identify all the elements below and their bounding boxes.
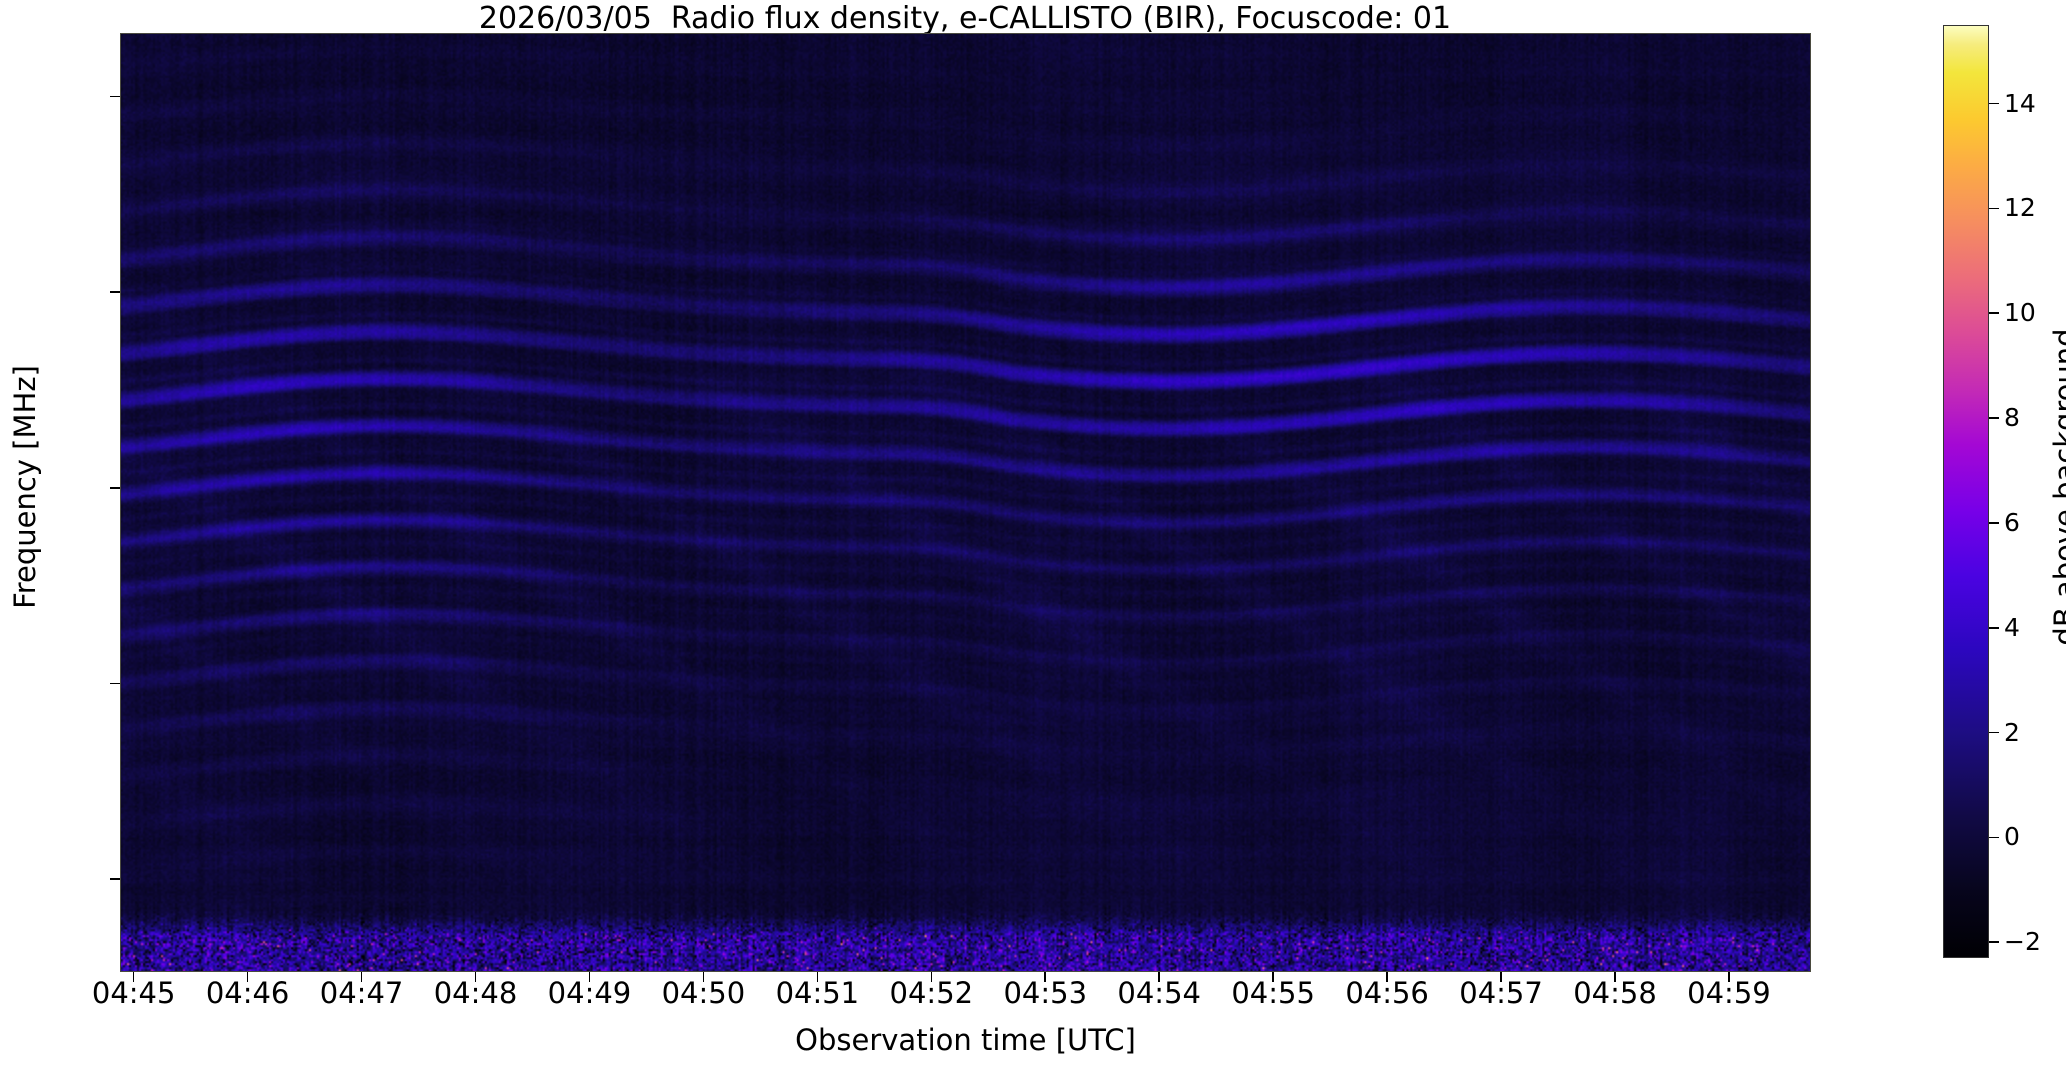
colorbar-tick-mark (1989, 627, 1999, 629)
y-tick-mark (110, 487, 120, 489)
page-title: 2026/03/05 Radio flux density, e-CALLIST… (120, 2, 1810, 36)
colorbar-tick-mark (1989, 103, 1999, 105)
y-tick-mark (110, 291, 120, 293)
colorbar-tick-label: −2 (2004, 929, 2060, 954)
colorbar-tick-label: 14 (2004, 91, 2060, 116)
colorbar-tick-mark (1989, 417, 1999, 419)
spectrogram-image (121, 34, 1810, 971)
colorbar-label: dB above background (2048, 227, 2066, 747)
colorbar-gradient (1943, 25, 1989, 958)
y-axis-label: Frequency [MHz] (8, 17, 42, 957)
colorbar-tick-mark (1989, 732, 1999, 734)
y-tick-mark (110, 96, 120, 98)
colorbar-tick-mark (1989, 312, 1999, 314)
colorbar-tick-label: 0 (2004, 824, 2060, 849)
colorbar-tick-mark (1989, 522, 1999, 524)
x-axis-label: Observation time [UTC] (120, 1023, 1811, 1057)
y-tick-mark (110, 878, 120, 880)
colorbar-tick-mark (1989, 837, 1999, 839)
spectrogram-axes (120, 33, 1811, 972)
colorbar-tick-label: 12 (2004, 195, 2060, 220)
colorbar-tick-mark (1989, 941, 1999, 943)
x-tick-label: 04:59 (1649, 978, 1809, 1008)
colorbar-tick-mark (1989, 208, 1999, 210)
y-tick-mark (110, 683, 120, 685)
